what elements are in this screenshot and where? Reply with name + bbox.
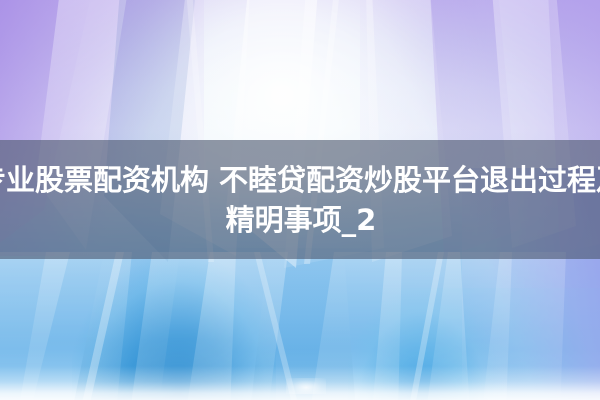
cover-image: 专业股票配资机构 不睦贷配资炒股平台退出过程及 精明事项_2 (0, 0, 600, 400)
title-line-1: 专业股票配资机构 不睦贷配资炒股平台退出过程及 (0, 160, 600, 200)
title-line-2: 精明事项_2 (224, 200, 377, 240)
bottom-watermark-smudge (286, 378, 326, 394)
title-overlay-band: 专业股票配资机构 不睦贷配资炒股平台退出过程及 精明事项_2 (0, 140, 600, 259)
